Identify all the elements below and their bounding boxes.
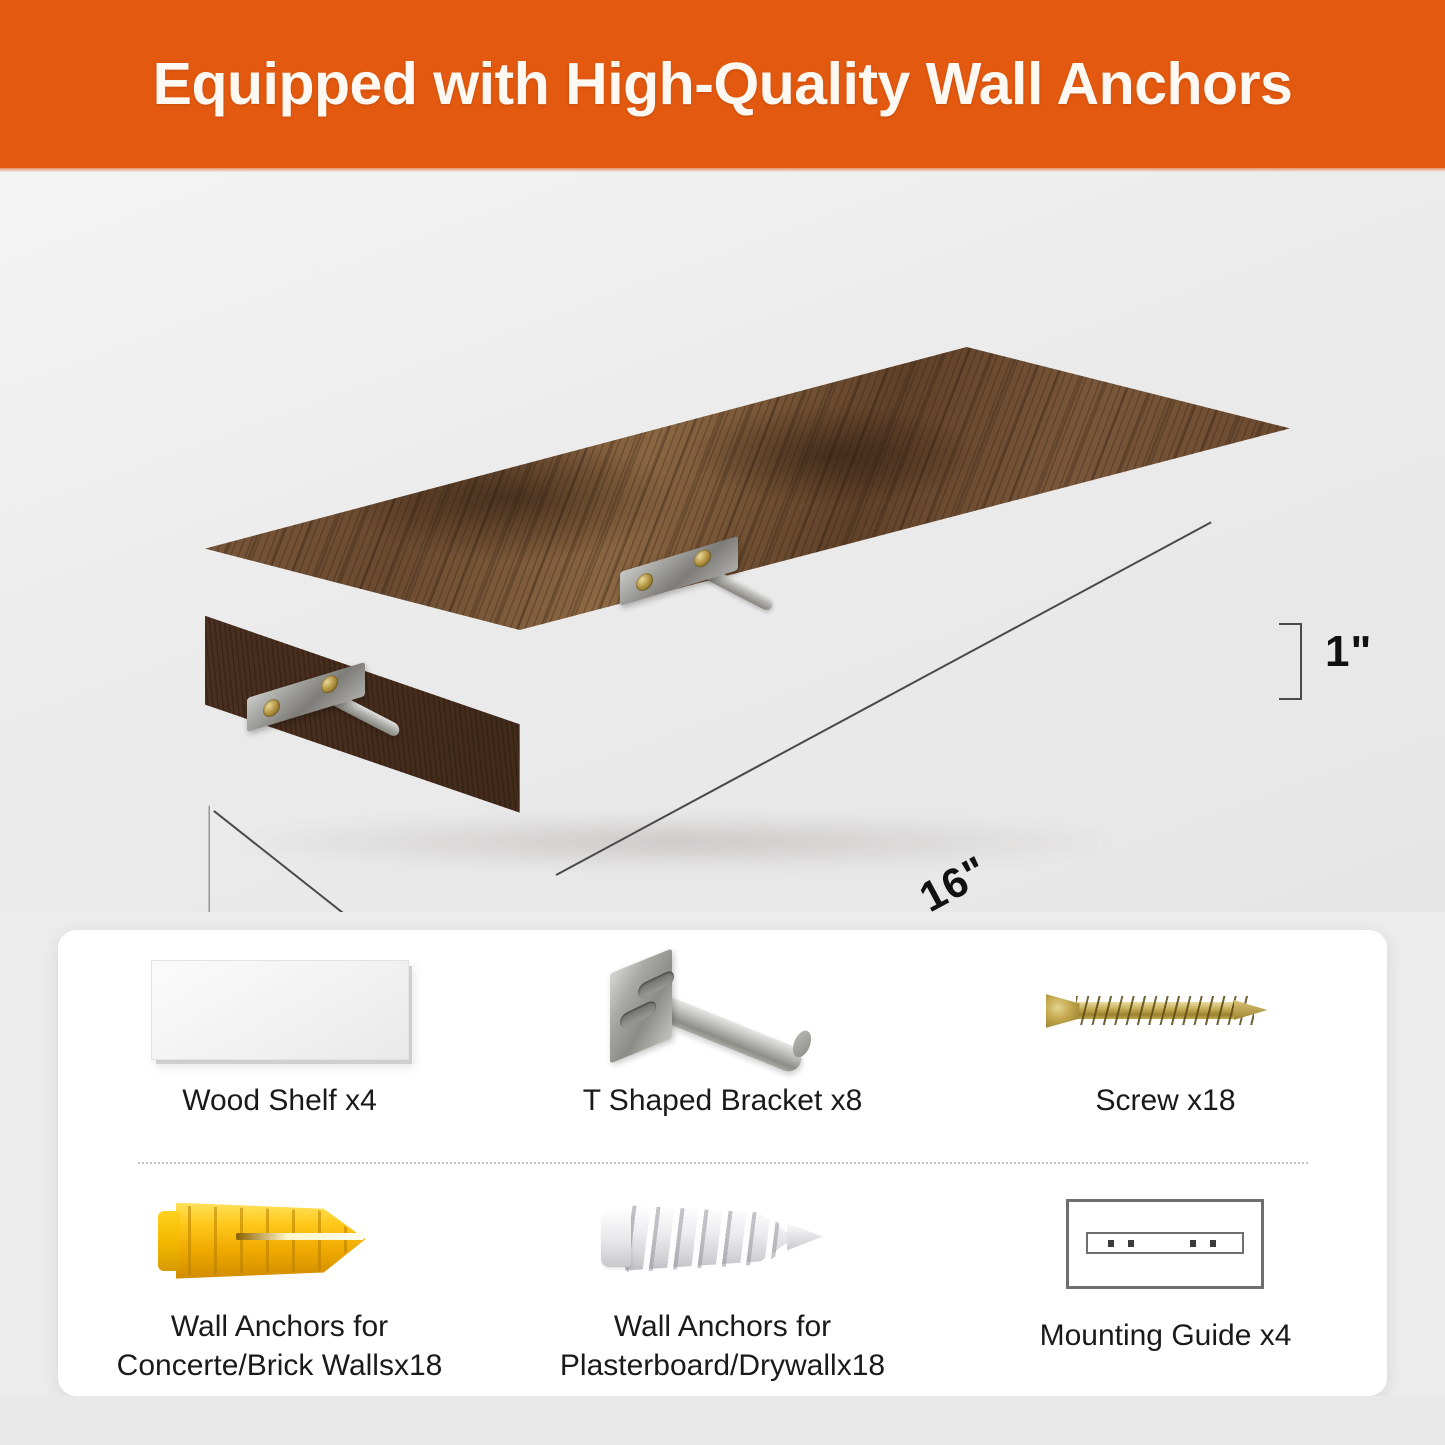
parts-row-top: Wood Shelf x4 T Shaped Bracket x8	[58, 950, 1387, 1136]
mounting-guide-icon	[944, 1185, 1387, 1305]
dimension-tick-bottom	[1279, 698, 1302, 700]
drywall-anchor-icon	[501, 1185, 944, 1296]
dimension-tick-top	[1279, 623, 1302, 625]
parts-list-card: Wood Shelf x4 T Shaped Bracket x8	[58, 930, 1387, 1396]
part-item-wood-shelf: Wood Shelf x4	[58, 950, 501, 1136]
page-title: Equipped with High-Quality Wall Anchors	[153, 50, 1293, 118]
header-banner: Equipped with High-Quality Wall Anchors	[0, 0, 1445, 168]
part-label-wood-shelf: Wood Shelf x4	[182, 1082, 377, 1120]
t-bracket-icon	[501, 950, 944, 1070]
part-label-screw: Screw x18	[1095, 1082, 1235, 1120]
part-label-drywall-anchor: Wall Anchors for Plasterboard/Drywallx18	[560, 1308, 885, 1385]
wood-shelf-icon	[58, 950, 501, 1070]
parts-row-bottom: Wall Anchors for Concerte/Brick Wallsx18…	[58, 1185, 1387, 1385]
part-label-t-bracket: T Shaped Bracket x8	[583, 1082, 863, 1120]
part-item-masonry-anchor: Wall Anchors for Concerte/Brick Wallsx18	[58, 1185, 501, 1385]
shelf-drop-shadow	[225, 812, 1125, 872]
dimension-guide-line-a	[208, 806, 209, 912]
part-label-masonry-anchor: Wall Anchors for Concerte/Brick Wallsx18	[117, 1308, 443, 1385]
screw-icon	[944, 950, 1387, 1070]
masonry-anchor-icon	[58, 1185, 501, 1296]
part-item-drywall-anchor: Wall Anchors for Plasterboard/Drywallx18	[501, 1185, 944, 1385]
dimension-line-thickness	[1300, 623, 1302, 699]
dimension-label-thickness: 1"	[1325, 627, 1372, 677]
product-hero: 16" 6.7" 1"	[0, 172, 1445, 912]
part-item-screw: Screw x18	[944, 950, 1387, 1136]
product-infographic: Equipped with High-Quality Wall Anchors …	[0, 0, 1445, 1445]
part-item-mounting-guide: Mounting Guide x4	[944, 1185, 1387, 1385]
parts-row-divider	[138, 1162, 1308, 1164]
part-label-mounting-guide: Mounting Guide x4	[1040, 1317, 1292, 1355]
page-bottom-fill	[0, 1396, 1445, 1445]
part-item-t-bracket: T Shaped Bracket x8	[501, 950, 944, 1136]
